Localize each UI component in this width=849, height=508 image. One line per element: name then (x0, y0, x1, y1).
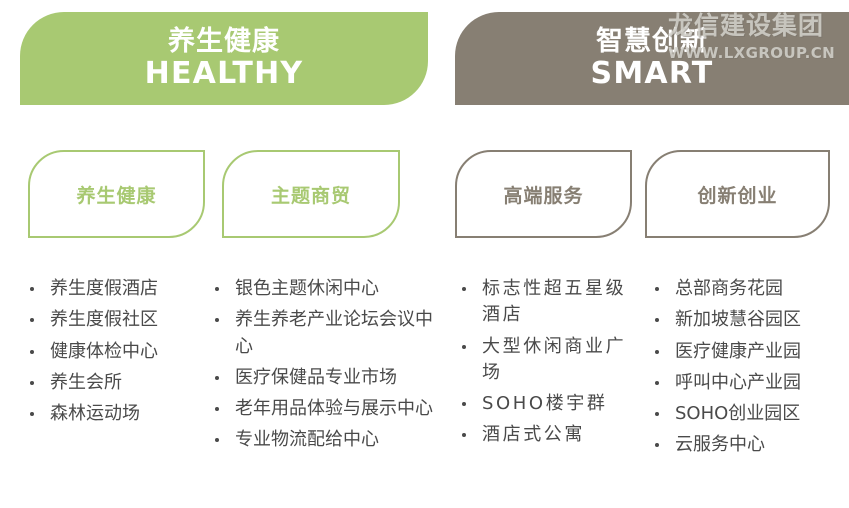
list-item: 大型休闲商业广场 (452, 334, 637, 387)
list-item-label: 专业物流配给中心 (235, 427, 445, 453)
list-item-label: 呼叫中心产业园 (675, 370, 845, 396)
banner-healthy-cn: 养生健康 (168, 27, 280, 57)
bullet-dot-icon (462, 287, 466, 291)
list-item-label: 老年用品体验与展示中心 (235, 396, 445, 422)
subhead-premium-services[interactable]: 高端服务 (455, 150, 632, 238)
list-item: 养生度假酒店 (20, 276, 205, 302)
bullet-dot-icon (30, 318, 34, 322)
bullet-dot-icon (462, 345, 466, 349)
list-item: 云服务中心 (645, 432, 845, 458)
bullet-dot-icon (30, 381, 34, 385)
banner-healthy: 养生健康 HEALTHY (20, 12, 428, 105)
list-item: 养生会所 (20, 370, 205, 396)
list-item: 酒店式公寓 (452, 422, 637, 448)
list-item-label: 酒店式公寓 (482, 422, 637, 448)
banner-smart: 智慧创新 SMART (455, 12, 849, 105)
list-item-label: 医疗健康产业园 (675, 339, 845, 365)
list-item-label: 云服务中心 (675, 432, 845, 458)
list-item-label: 健康体检中心 (50, 339, 205, 365)
banner-smart-cn: 智慧创新 (596, 27, 708, 57)
bullet-dot-icon (215, 287, 219, 291)
list-item: SOHO创业园区 (645, 401, 845, 427)
list-column-theme-commerce: 银色主题休闲中心养生养老产业论坛会议中心医疗保健品专业市场老年用品体验与展示中心… (205, 276, 445, 459)
list-item: 银色主题休闲中心 (205, 276, 445, 302)
list-column-health-wellness: 养生度假酒店养生度假社区健康体检中心养生会所森林运动场 (20, 276, 205, 432)
list-item-label: 新加坡慧谷园区 (675, 307, 845, 333)
list-item: 养生度假社区 (20, 307, 205, 333)
list-item: 养生养老产业论坛会议中心 (205, 307, 445, 360)
list-item: 医疗健康产业园 (645, 339, 845, 365)
banner-healthy-en: HEALTHY (145, 57, 304, 91)
list-item: 森林运动场 (20, 401, 205, 427)
bullet-dot-icon (215, 407, 219, 411)
bullet-dot-icon (462, 433, 466, 437)
bullet-dot-icon (655, 443, 659, 447)
bullet-dot-icon (30, 287, 34, 291)
list-column-innovation-startup: 总部商务花园新加坡慧谷园区医疗健康产业园呼叫中心产业园SOHO创业园区云服务中心 (645, 276, 845, 464)
list-column-premium-services: 标志性超五星级酒店大型休闲商业广场SOHO楼宇群酒店式公寓 (452, 276, 637, 454)
bullet-dot-icon (215, 438, 219, 442)
list-item-label: 森林运动场 (50, 401, 205, 427)
list-item-label: 养生会所 (50, 370, 205, 396)
bullet-dot-icon (215, 318, 219, 322)
list-item: 新加坡慧谷园区 (645, 307, 845, 333)
list-item-label: 养生度假酒店 (50, 276, 205, 302)
list-item-label: 银色主题休闲中心 (235, 276, 445, 302)
bullet-list: 标志性超五星级酒店大型休闲商业广场SOHO楼宇群酒店式公寓 (452, 276, 637, 449)
list-item: 医疗保健品专业市场 (205, 365, 445, 391)
bullet-list: 养生度假酒店养生度假社区健康体检中心养生会所森林运动场 (20, 276, 205, 427)
list-item: 专业物流配给中心 (205, 427, 445, 453)
subhead-theme-commerce-label: 主题商贸 (271, 181, 351, 208)
bullet-dot-icon (655, 412, 659, 416)
list-item-label: 大型休闲商业广场 (482, 334, 637, 387)
bullet-dot-icon (30, 412, 34, 416)
list-item: 标志性超五星级酒店 (452, 276, 637, 329)
bullet-dot-icon (655, 287, 659, 291)
list-item: 总部商务花园 (645, 276, 845, 302)
banner-smart-en: SMART (591, 57, 714, 91)
list-item-label: SOHO楼宇群 (482, 391, 637, 417)
slide-canvas: 养生健康 HEALTHY 智慧创新 SMART 龙信建设集团 WWW.LXGRO… (0, 0, 849, 508)
bullet-dot-icon (655, 381, 659, 385)
list-item-label: 养生养老产业论坛会议中心 (235, 307, 445, 360)
subhead-premium-services-label: 高端服务 (503, 181, 583, 208)
list-item-label: 标志性超五星级酒店 (482, 276, 637, 329)
bullet-dot-icon (655, 350, 659, 354)
bullet-dot-icon (655, 318, 659, 322)
list-item-label: 总部商务花园 (675, 276, 845, 302)
subhead-health-wellness[interactable]: 养生健康 (28, 150, 205, 238)
list-item: SOHO楼宇群 (452, 391, 637, 417)
bullet-dot-icon (462, 402, 466, 406)
bullet-list: 总部商务花园新加坡慧谷园区医疗健康产业园呼叫中心产业园SOHO创业园区云服务中心 (645, 276, 845, 459)
subhead-innovation-startup[interactable]: 创新创业 (645, 150, 830, 238)
list-item: 健康体检中心 (20, 339, 205, 365)
subhead-innovation-startup-label: 创新创业 (697, 181, 777, 208)
bullet-dot-icon (30, 350, 34, 354)
subhead-health-wellness-label: 养生健康 (76, 181, 156, 208)
list-item: 呼叫中心产业园 (645, 370, 845, 396)
bullet-dot-icon (215, 376, 219, 380)
list-item-label: SOHO创业园区 (675, 401, 845, 427)
subhead-theme-commerce[interactable]: 主题商贸 (222, 150, 400, 238)
list-item-label: 医疗保健品专业市场 (235, 365, 445, 391)
list-item: 老年用品体验与展示中心 (205, 396, 445, 422)
bullet-list: 银色主题休闲中心养生养老产业论坛会议中心医疗保健品专业市场老年用品体验与展示中心… (205, 276, 445, 454)
list-item-label: 养生度假社区 (50, 307, 205, 333)
